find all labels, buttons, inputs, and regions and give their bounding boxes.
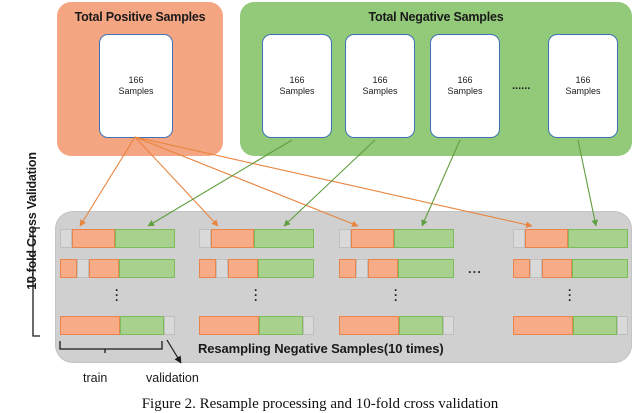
segment-train-positive [542,259,572,278]
segment-validation [339,229,351,248]
fold-rows-ellipsis: ··· [568,288,572,303]
fold-rows-ellipsis: ··· [115,288,119,303]
segment-train-positive [72,229,115,248]
segment-train-negative [120,316,164,335]
negative-sample-unit: Samples [447,86,482,97]
total-negative-samples-group: Total Negative Samples 166 Samples 166 S… [240,2,632,156]
resample-label: Resampling Negative Samples(10 times) [198,341,444,356]
positive-sample-card: 166 Samples [99,34,173,138]
segment-train-negative [394,229,454,248]
positive-group-title: Total Positive Samples [57,10,223,24]
fold-row [513,229,628,248]
positive-sample-count: 166 [128,75,143,86]
fold-row [199,259,314,278]
negative-sample-count: 166 [457,75,472,86]
fold-row [60,229,175,248]
segment-train-positive [199,259,216,278]
fold-row [199,229,314,248]
fold-row [513,259,628,278]
negative-sample-count: 166 [575,75,590,86]
fold-row [60,316,175,335]
segment-validation [443,316,454,335]
segment-train-negative [254,229,314,248]
segment-train-negative [258,259,314,278]
segment-train-positive [513,259,530,278]
segment-train-negative [119,259,175,278]
cross-validation-vertical-label: 10-fold Cross Validation [25,126,39,316]
fold-row [513,316,628,335]
segment-train-positive [211,229,254,248]
fold-row [199,316,314,335]
segment-validation [60,229,72,248]
segment-validation [199,229,211,248]
segment-validation [164,316,175,335]
negative-sample-unit: Samples [565,86,600,97]
negative-group-title: Total Negative Samples [240,10,632,24]
negative-sample-card: 166 Samples [262,34,332,138]
negative-sample-card: 166 Samples [548,34,618,138]
negative-sample-count: 166 [372,75,387,86]
negative-sample-card: 166 Samples [345,34,415,138]
negative-sample-card: 166 Samples [430,34,500,138]
segment-validation [77,259,89,278]
segment-train-positive [228,259,258,278]
segment-train-positive [60,316,120,335]
figure-caption: Figure 2. Resample processing and 10-fol… [0,396,640,413]
segment-train-positive [89,259,119,278]
fold-row [60,259,175,278]
segment-train-positive [339,316,399,335]
fold-columns-ellipsis: ... [468,261,482,276]
segment-train-positive [351,229,394,248]
segment-validation [216,259,228,278]
segment-validation [530,259,542,278]
segment-train-negative [572,259,628,278]
segment-train-positive [199,316,259,335]
fold-row [339,229,454,248]
fold-rows-ellipsis: ··· [394,288,398,303]
negative-cards-ellipsis: ...... [512,80,530,92]
segment-train-negative [573,316,617,335]
negative-sample-unit: Samples [362,86,397,97]
negative-sample-unit: Samples [279,86,314,97]
segment-train-positive [525,229,568,248]
fold-row [339,259,454,278]
segment-validation [617,316,628,335]
segment-train-positive [60,259,77,278]
segment-train-positive [339,259,356,278]
segment-validation [303,316,314,335]
segment-train-negative [259,316,303,335]
total-positive-samples-group: Total Positive Samples 166 Samples [57,2,223,156]
train-label: train [83,371,107,385]
segment-train-negative [398,259,454,278]
negative-sample-count: 166 [289,75,304,86]
segment-train-negative [115,229,175,248]
segment-validation [356,259,368,278]
positive-sample-unit: Samples [118,86,153,97]
segment-validation [513,229,525,248]
fold-row [339,316,454,335]
segment-train-positive [513,316,573,335]
segment-train-negative [399,316,443,335]
validation-label: validation [146,371,199,385]
segment-train-positive [368,259,398,278]
segment-train-negative [568,229,628,248]
fold-rows-ellipsis: ··· [254,288,258,303]
